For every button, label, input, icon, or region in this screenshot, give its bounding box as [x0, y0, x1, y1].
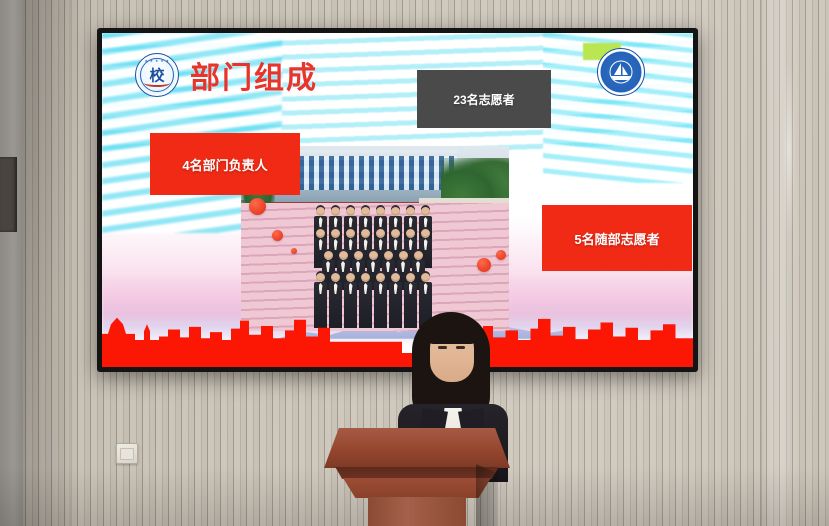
photo-balloon: [249, 198, 266, 215]
wall-left-column: [0, 0, 23, 526]
podium-top-surface: [324, 428, 510, 468]
callout-label: 4名部门负责人: [182, 155, 267, 174]
skyline-left: [102, 311, 402, 355]
podium-midsection: [340, 478, 494, 498]
wall-light-glow: [760, 0, 800, 526]
photo-balloon: [477, 258, 491, 272]
sailboat-icon: [608, 60, 634, 84]
wooden-podium: [324, 428, 510, 526]
wall-left-panel: [23, 0, 69, 526]
university-emblem-left-icon: ★ ★ ★ ★ ★ 校: [135, 53, 179, 97]
callout-department-heads[interactable]: 4名部门负责人: [150, 133, 300, 195]
callout-volunteers-total[interactable]: 23名志愿者: [417, 70, 551, 128]
callout-attached-volunteers[interactable]: 5名随部志愿者: [542, 205, 692, 271]
university-emblem-right-icon: [597, 48, 645, 96]
photo-balloon: [272, 230, 283, 241]
emblem-arc-text: ★ ★ ★ ★ ★: [145, 59, 170, 63]
wall-light-switch[interactable]: [116, 443, 138, 464]
callout-label: 23名志愿者: [453, 91, 514, 108]
podium-side-shadow: [476, 464, 498, 526]
callout-label: 5名随部志愿者: [574, 229, 659, 248]
wall-highlight-streak: [786, 60, 792, 240]
presenter-eye-left: [438, 346, 447, 349]
emblem-swoosh: [144, 79, 170, 87]
presenter-eye-right: [456, 346, 465, 349]
photo-people-group: [287, 207, 459, 325]
wall-seam-left: [69, 0, 71, 526]
screenshot-root: ★ ★ ★ ★ ★ 校 部门组成: [0, 0, 829, 526]
presenter-hair-front: [425, 318, 479, 344]
photo-balloon: [496, 250, 506, 260]
photo-balloon: [291, 248, 297, 254]
wall-recess: [0, 157, 17, 232]
podium-column: [368, 497, 466, 526]
slide-title: 部门组成: [190, 53, 318, 97]
